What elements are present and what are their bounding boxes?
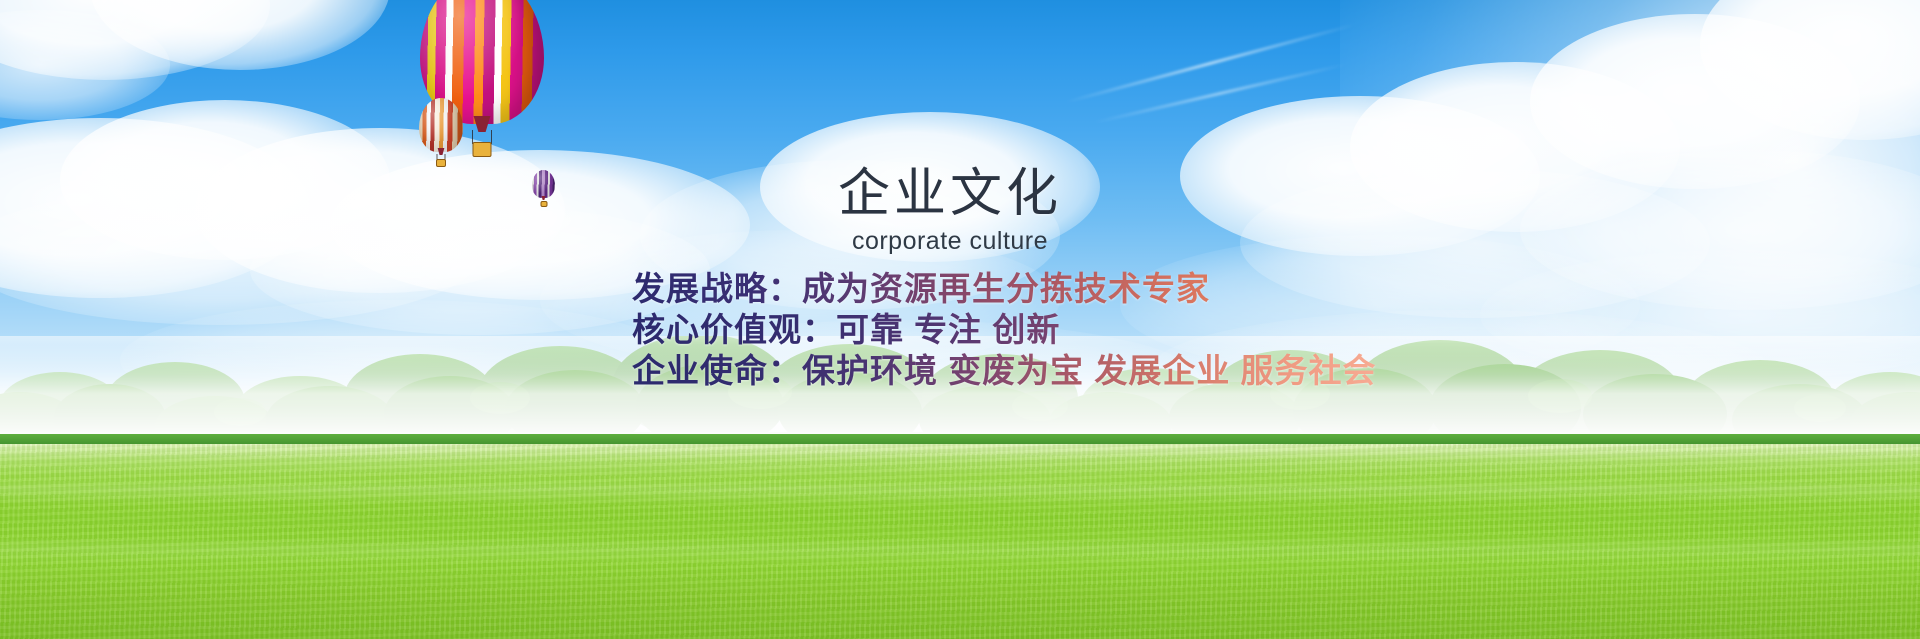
medium-balloon-envelope (419, 98, 463, 152)
medium-balloon (419, 98, 463, 152)
slogan-line-values: 核心价值观：可靠 专注 创新 (632, 309, 1377, 350)
medium-balloon-basket (436, 159, 446, 167)
slogan-line-strategy: 发展战略：成为资源再生分拣技术专家 (632, 268, 1377, 309)
grass-field (0, 444, 1920, 639)
small-balloon-envelope (532, 170, 555, 198)
large-balloon-basket (473, 142, 492, 157)
slogan-list: 发展战略：成为资源再生分拣技术专家 核心价值观：可靠 专注 创新 企业使命：保护… (632, 268, 1377, 391)
small-balloon-basket (540, 201, 547, 207)
page-title: 企业文化 (630, 168, 1270, 220)
small-balloon (532, 170, 555, 198)
page-subtitle: corporate culture (630, 226, 1270, 256)
corporate-culture-banner: 企业文化 corporate culture 发展战略：成为资源再生分拣技术专家… (0, 0, 1920, 639)
slogan-line-mission: 企业使命：保护环境 变废为宝 发展企业 服务社会 (632, 350, 1377, 391)
grass-bands (0, 444, 1920, 639)
title-block: 企业文化 corporate culture (630, 168, 1270, 256)
